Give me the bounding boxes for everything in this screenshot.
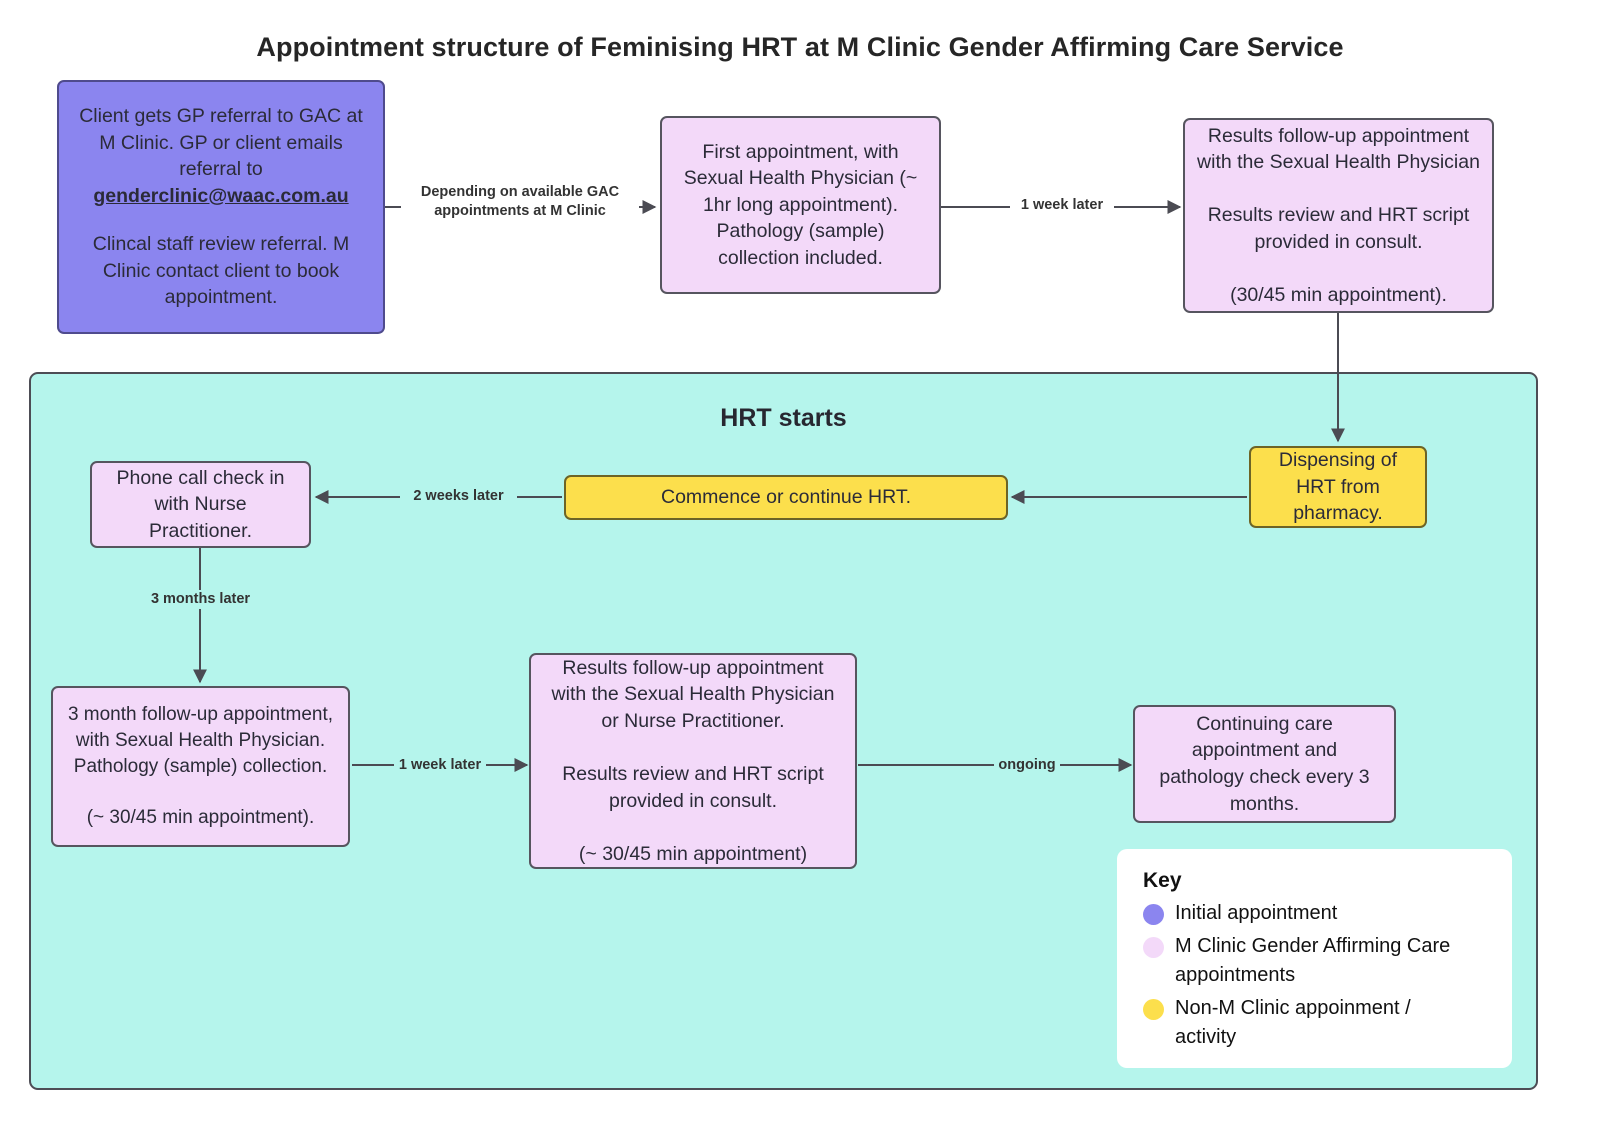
node-referral[interactable]: Client gets GP referral to GAC at M Clin… <box>57 80 385 334</box>
edge-label-referral-to-first: Depending on available GAC appointments … <box>401 183 639 221</box>
hrt-starts-label: HRT starts <box>31 404 1536 433</box>
key-item-non-clinic: Non-M Clinic appoinment / activity <box>1143 994 1486 1052</box>
edge-label-first-to-results: 1 week later <box>1010 196 1114 215</box>
node-results-followup-1[interactable]: Results follow-up appointment with the S… <box>1183 118 1494 313</box>
node-three-month-followup[interactable]: 3 month follow-up appointment, with Sexu… <box>51 686 350 847</box>
node-referral-text-2: Clincal staff review referral. M Clinic … <box>71 231 371 311</box>
key-swatch-clinic-icon <box>1143 937 1164 958</box>
key-title: Key <box>1143 869 1486 893</box>
key-swatch-nonclinic-icon <box>1143 999 1164 1020</box>
edge-label-commence-to-phone: 2 weeks later <box>400 487 517 506</box>
node-commence-hrt[interactable]: Commence or continue HRT. <box>564 475 1008 520</box>
node-referral-email[interactable]: genderclinic@waac.com.au <box>93 183 348 210</box>
key-label-nonclinic: Non-M Clinic appoinment / activity <box>1175 994 1475 1052</box>
node-referral-text-1: Client gets GP referral to GAC at M Clin… <box>71 103 371 183</box>
node-dispensing[interactable]: Dispensing of HRT from pharmacy. <box>1249 446 1427 528</box>
key-item-initial-appointment: Initial appointment <box>1143 899 1486 928</box>
node-first-appointment[interactable]: First appointment, with Sexual Health Ph… <box>660 116 941 294</box>
node-results-followup-2[interactable]: Results follow-up appointment with the S… <box>529 653 857 869</box>
edge-label-results2-to-continuing: ongoing <box>994 756 1060 775</box>
edge-label-three-month-to-results2: 1 week later <box>394 756 486 775</box>
key-item-clinic-appointments: M Clinic Gender Affirming Care appointme… <box>1143 932 1486 990</box>
node-continuing-care[interactable]: Continuing care appointment and patholog… <box>1133 705 1396 823</box>
key-label-initial: Initial appointment <box>1175 899 1337 928</box>
diagram-canvas: Appointment structure of Feminising HRT … <box>0 0 1600 1148</box>
edge-label-phone-to-three-month: 3 months later <box>134 590 267 609</box>
key-label-clinic: M Clinic Gender Affirming Care appointme… <box>1175 932 1475 990</box>
key-swatch-initial-icon <box>1143 904 1164 925</box>
node-phone-check-in[interactable]: Phone call check in with Nurse Practitio… <box>90 461 311 548</box>
key-legend: Key Initial appointment M Clinic Gender … <box>1117 849 1512 1068</box>
page-title: Appointment structure of Feminising HRT … <box>0 32 1600 63</box>
